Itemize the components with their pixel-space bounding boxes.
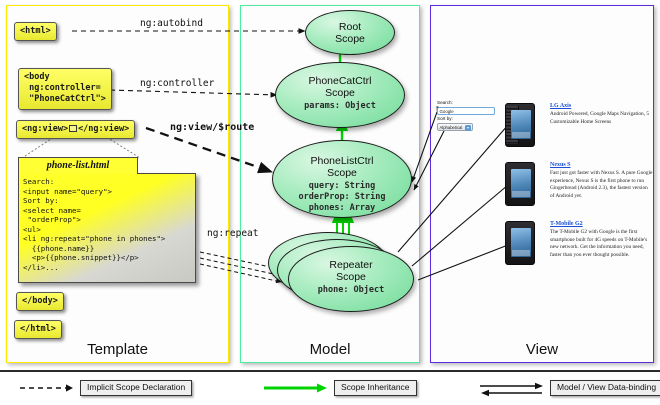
tag-body-open: <body ng:controller= "PhoneCatCtrl"> xyxy=(18,68,112,110)
edge-label-route: ng:view/$route xyxy=(170,122,254,133)
green-arrow-icon xyxy=(262,382,330,394)
scope-repeater: Repeater Scope phone: Object xyxy=(288,246,414,312)
phone-thumbnail-icon xyxy=(505,221,535,265)
legend-label-scope-inheritance: Scope Inheritance xyxy=(334,380,417,396)
phone-name-link[interactable]: Nexus S xyxy=(550,162,653,168)
scope-repeater-name-l2: Scope xyxy=(336,271,366,283)
scope-phonecatctrl-name-l1: PhoneCatCtrl xyxy=(308,75,371,87)
ngview-placeholder-icon xyxy=(69,125,77,132)
legend: Implicit Scope Declaration Scope Inherit… xyxy=(0,370,660,405)
list-item[interactable]: LG Axis Android Powered, Google Maps Nav… xyxy=(505,103,653,157)
scope-repeater-name-l1: Repeater xyxy=(329,259,372,271)
panel-model-label: Model xyxy=(241,341,419,358)
phone-snippet: Android Powered, Google Maps Navigation,… xyxy=(550,111,653,126)
phone-text: Nexus S Fast just got faster with Nexus … xyxy=(550,162,653,201)
scope-repeater-props: phone: Object xyxy=(289,285,413,296)
legend-label-data-binding: Model / View Data-binding xyxy=(550,380,660,396)
scope-root-name: Root Scope xyxy=(306,21,394,45)
scope-root: Root Scope xyxy=(305,10,395,55)
phone-snippet: The T-Mobile G2 with Google is the first… xyxy=(550,229,653,260)
legend-item-implicit-scope: Implicit Scope Declaration xyxy=(18,380,192,396)
edge-label-repeat: ng:repeat xyxy=(207,228,258,239)
tag-html-open: <html> xyxy=(14,22,57,41)
legend-item-scope-inheritance: Scope Inheritance xyxy=(262,380,417,396)
double-arrow-icon xyxy=(478,382,546,398)
scope-phonecatctrl-props: params: Object xyxy=(276,101,404,112)
diagram-canvas: Template Model View xyxy=(0,0,660,405)
scope-repeater-stack: Repeater Scope phone: Object xyxy=(268,232,418,324)
phone-text: T-Mobile G2 The T-Mobile G2 with Google … xyxy=(550,221,653,260)
search-input[interactable]: Google xyxy=(437,107,495,115)
callout-code: Search: <input name="query"> Sort by: <s… xyxy=(18,173,196,283)
scope-phonecatctrl: PhoneCatCtrl Scope params: Object xyxy=(275,62,405,128)
tag-ngview: <ng:view></ng:view> xyxy=(16,120,135,139)
callout-title: phone-list.html xyxy=(18,157,138,174)
scope-phonecatctrl-name-l2: Scope xyxy=(325,87,355,99)
tag-html-close: </html> xyxy=(14,320,62,339)
tag-ngview-open: <ng:view> xyxy=(22,124,68,134)
phone-text: LG Axis Android Powered, Google Maps Nav… xyxy=(550,103,653,126)
legend-divider xyxy=(0,370,660,372)
phone-name-link[interactable]: LG Axis xyxy=(550,103,653,109)
search-label: Search: xyxy=(437,100,499,107)
edge-label-controller: ng:controller xyxy=(140,78,214,89)
scope-phonelistctrl-name: PhoneListCtrl Scope xyxy=(273,155,411,179)
legend-item-data-binding: Model / View Data-binding xyxy=(478,380,660,396)
list-item[interactable]: T-Mobile G2 The T-Mobile G2 with Google … xyxy=(505,221,653,275)
list-item[interactable]: Nexus S Fast just got faster with Nexus … xyxy=(505,162,653,216)
scope-phonelistctrl: PhoneListCtrl Scope query: String orderP… xyxy=(272,140,412,218)
chevron-down-icon: ▾ xyxy=(465,125,471,132)
scope-phonelistctrl-props: query: String orderProp: String phones: … xyxy=(273,181,411,214)
sort-select-value: Alphabetical xyxy=(440,125,463,130)
tag-ngview-close: </ng:view> xyxy=(78,124,129,134)
phone-snippet: Fast just got faster with Nexus S. A pur… xyxy=(550,170,653,201)
edge-label-autobind: ng:autobind xyxy=(140,18,203,29)
scope-phonecatctrl-name: PhoneCatCtrl Scope xyxy=(276,75,404,99)
scope-root-name-l1: Root xyxy=(339,21,361,33)
tag-body-close: </body> xyxy=(16,292,64,311)
panel-view-label: View xyxy=(431,341,653,358)
phone-name-link[interactable]: T-Mobile G2 xyxy=(550,221,653,227)
scope-repeater-name: Repeater Scope xyxy=(289,259,413,283)
panel-template-label: Template xyxy=(7,341,228,358)
phone-list: LG Axis Android Powered, Google Maps Nav… xyxy=(505,103,653,280)
phone-thumbnail-icon xyxy=(505,162,535,206)
scope-phonelistctrl-name-l1: PhoneListCtrl xyxy=(310,155,373,167)
scope-phonelistctrl-name-l2: Scope xyxy=(327,167,357,179)
dashed-arrow-icon xyxy=(18,382,76,394)
scope-root-name-l2: Scope xyxy=(335,33,365,45)
phone-thumbnail-icon xyxy=(505,103,535,147)
phone-list-callout: phone-list.html Search: <input name="que… xyxy=(18,157,196,287)
sort-label: Sort by: xyxy=(437,116,499,123)
view-search-widget: Search: Google Sort by: Alphabetical ▾ xyxy=(437,100,499,131)
legend-label-implicit-scope: Implicit Scope Declaration xyxy=(80,380,192,396)
sort-select[interactable]: Alphabetical ▾ xyxy=(437,123,473,131)
